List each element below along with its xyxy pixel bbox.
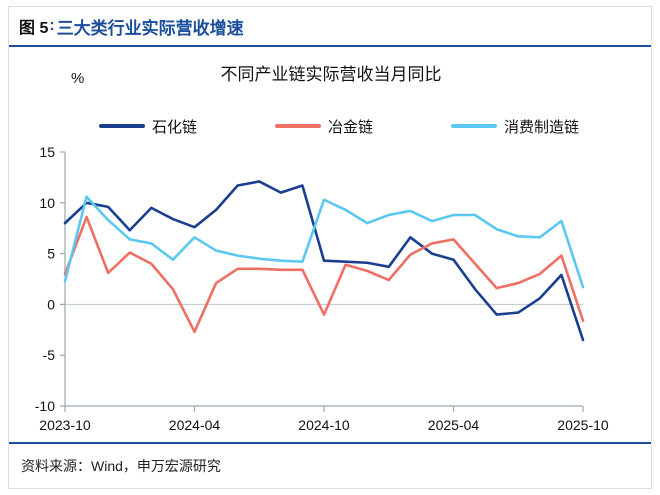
y-tick-label: 0 [47, 296, 55, 312]
x-tick-label: 2025-04 [428, 417, 480, 433]
figure-number: 图 5 [19, 14, 48, 38]
x-tick-label: 2025-10 [557, 417, 609, 433]
y-tick-label: 10 [39, 195, 55, 211]
y-tick-label: -10 [35, 398, 55, 414]
y-tick-label: -5 [43, 347, 56, 363]
x-tick-label: 2024-04 [169, 417, 221, 433]
figure-footer: 资料来源：Wind，申万宏源研究 [9, 442, 651, 488]
figure-header: 图 5 : 三大类行业实际营收增速 [9, 7, 651, 47]
series-line-消费制造链 [65, 197, 583, 287]
x-tick-label: 2024-10 [298, 417, 350, 433]
y-tick-label: 15 [39, 144, 55, 160]
y-tick-label: 5 [47, 246, 55, 262]
source-note: 资料来源：Wind，申万宏源研究 [21, 456, 221, 476]
chart-container: 不同产业链实际营收当月同比 % 石化链 冶金链 消费制造链 -10-505101… [9, 48, 653, 443]
figure-card: 图 5 : 三大类行业实际营收增速 不同产业链实际营收当月同比 % 石化链 冶金… [8, 6, 652, 489]
header-colon: : [49, 17, 54, 35]
figure-title: 三大类行业实际营收增速 [57, 14, 244, 39]
x-tick-label: 2023-10 [39, 417, 91, 433]
line-chart-plot: -10-50510152023-102024-042024-102025-042… [9, 48, 653, 443]
